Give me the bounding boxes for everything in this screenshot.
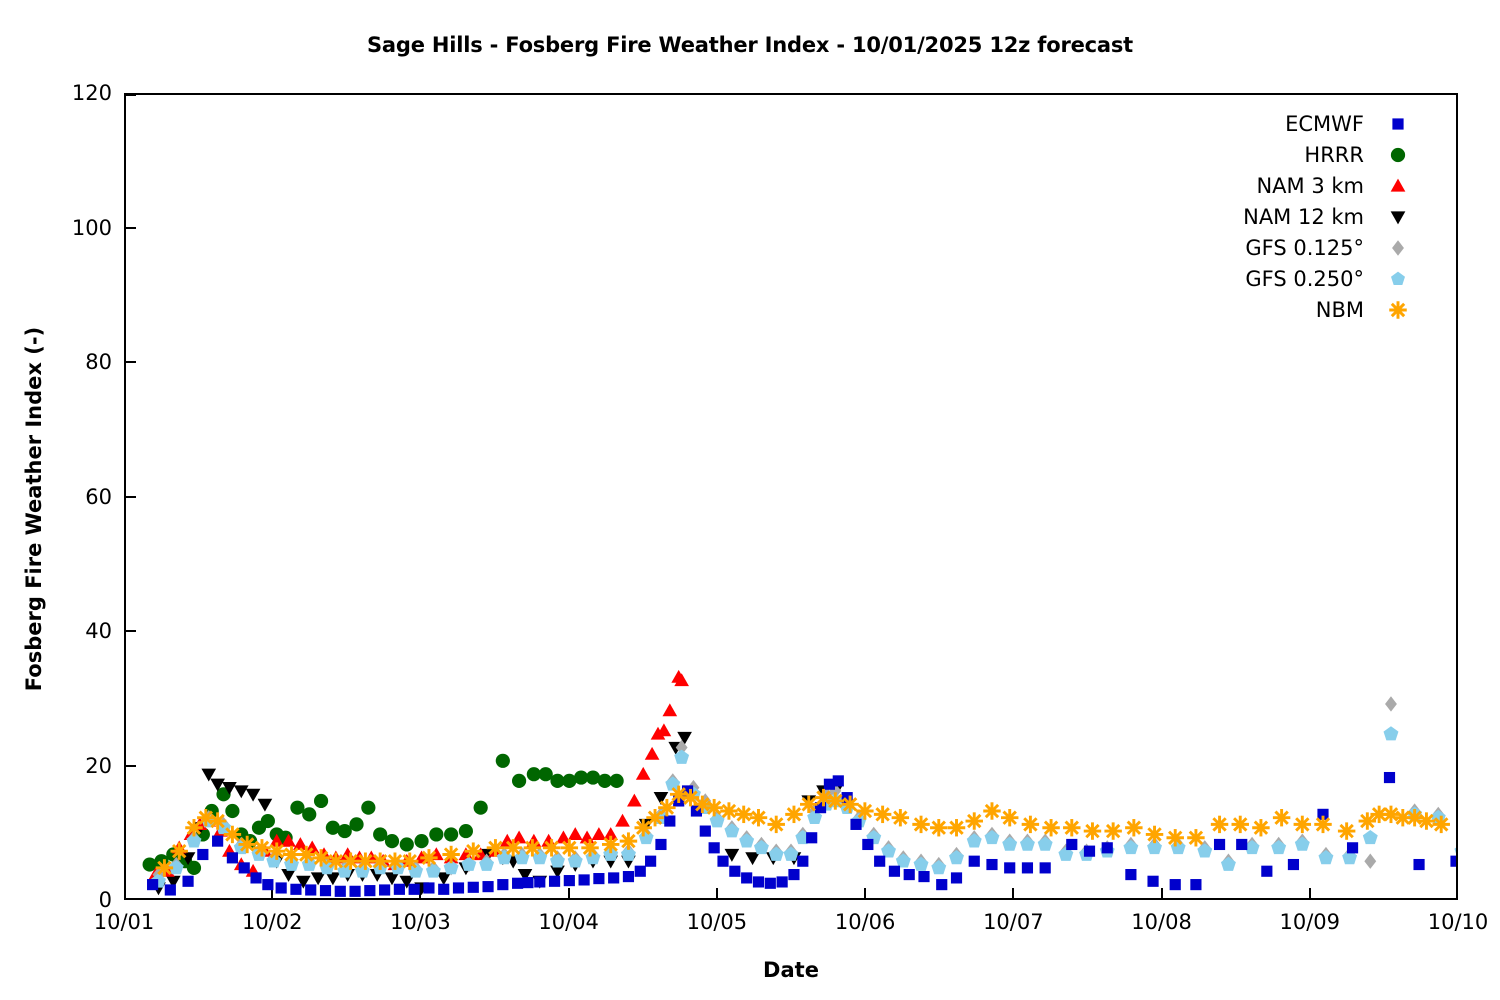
data-point <box>636 767 651 780</box>
data-point <box>281 869 296 882</box>
data-point <box>1338 822 1355 839</box>
data-point <box>896 853 911 867</box>
x-tick-label: 10/04 <box>538 910 599 934</box>
data-point <box>986 859 997 870</box>
data-point <box>442 846 459 863</box>
data-point <box>914 857 929 871</box>
legend-label: GFS 0.250° <box>1245 267 1386 291</box>
data-point <box>453 882 464 893</box>
data-point <box>1040 862 1051 873</box>
data-point <box>311 872 326 885</box>
data-point <box>262 879 273 890</box>
data-point <box>224 826 241 843</box>
data-point <box>261 814 275 828</box>
data-point <box>655 839 666 850</box>
data-point <box>1294 816 1311 833</box>
data-point <box>1022 862 1033 873</box>
data-point <box>856 802 873 819</box>
data-point <box>1347 842 1358 853</box>
data-point <box>1385 696 1397 711</box>
data-point <box>364 885 375 896</box>
data-point <box>147 879 158 890</box>
legend-item-ecmwf[interactable]: ECMWF <box>1185 108 1410 139</box>
data-point <box>985 830 1000 844</box>
data-point <box>349 817 363 831</box>
data-point <box>320 885 331 896</box>
data-point <box>1190 879 1201 890</box>
data-point <box>1002 837 1017 851</box>
data-point <box>1187 829 1204 846</box>
data-point <box>874 856 885 867</box>
data-point <box>1214 839 1225 850</box>
data-point <box>658 799 675 816</box>
data-point <box>705 799 722 816</box>
data-point <box>1063 819 1080 836</box>
data-point <box>468 882 479 893</box>
data-point <box>496 754 510 768</box>
data-point <box>1363 830 1378 844</box>
x-axis-title: Date <box>124 958 1458 982</box>
data-point <box>610 774 624 788</box>
x-tick-label: 10/10 <box>1428 910 1489 934</box>
data-point <box>170 842 187 859</box>
data-point <box>754 840 769 854</box>
data-point <box>827 792 844 809</box>
x-tick-label: 10/08 <box>1131 910 1192 934</box>
data-point <box>1236 839 1247 850</box>
fosberg-fire-weather-index-chart: Sage Hills - Fosberg Fire Weather Index … <box>0 0 1500 1000</box>
data-point <box>156 859 173 876</box>
y-tick-label: 0 <box>12 888 112 912</box>
data-point <box>385 834 399 848</box>
data-point <box>806 832 817 843</box>
y-tick-label: 80 <box>12 350 112 374</box>
data-point <box>815 789 832 806</box>
data-point <box>1125 869 1136 880</box>
data-point <box>1384 726 1399 740</box>
data-point <box>627 794 642 807</box>
data-point <box>1147 876 1158 887</box>
data-point <box>487 839 504 856</box>
data-point <box>892 809 909 826</box>
legend-label: HRRR <box>1304 143 1386 167</box>
data-point <box>335 886 346 897</box>
data-point <box>549 876 560 887</box>
data-point <box>739 833 754 847</box>
data-point <box>414 834 428 848</box>
data-point <box>1022 816 1039 833</box>
legend-label: NAM 3 km <box>1256 174 1386 198</box>
data-point <box>209 812 226 829</box>
data-point <box>290 884 301 895</box>
data-point <box>1318 850 1333 864</box>
chart-legend: ECMWFHRRRNAM 3 kmNAM 12 kmGFS 0.125°GFS … <box>1185 108 1410 325</box>
data-point <box>165 884 176 895</box>
data-point <box>298 846 315 863</box>
data-point <box>474 801 488 815</box>
data-point <box>1001 809 1018 826</box>
legend-item-nam-3-km[interactable]: NAM 3 km <box>1185 170 1410 201</box>
data-point <box>1066 839 1077 850</box>
data-point <box>710 813 725 827</box>
x-tick-label: 10/09 <box>1280 910 1341 934</box>
data-point <box>1146 826 1163 843</box>
data-point <box>250 872 261 883</box>
data-point <box>238 836 255 853</box>
data-point <box>1221 857 1236 871</box>
data-point <box>239 862 250 873</box>
data-point <box>534 876 545 887</box>
data-point <box>797 856 808 867</box>
data-point <box>1084 846 1095 857</box>
data-point <box>512 774 526 788</box>
data-point <box>717 856 728 867</box>
data-point <box>881 843 896 857</box>
data-point <box>400 837 414 851</box>
data-point <box>212 836 223 847</box>
data-point <box>951 872 962 883</box>
data-point <box>1252 819 1269 836</box>
legend-item-nam-12-km[interactable]: NAM 12 km <box>1185 201 1410 232</box>
data-point <box>767 816 784 833</box>
data-point <box>564 875 575 886</box>
data-point <box>623 871 634 882</box>
y-tick-label: 100 <box>12 216 112 240</box>
data-point <box>512 878 523 889</box>
data-point <box>579 874 590 885</box>
data-point <box>745 852 760 865</box>
data-point <box>276 882 287 893</box>
legend-item-gfs-0-125[interactable]: GFS 0.125° <box>1185 232 1410 263</box>
data-point <box>1454 843 1456 857</box>
data-point <box>983 802 1000 819</box>
data-point <box>918 871 929 882</box>
data-point <box>904 869 915 880</box>
data-point <box>1232 816 1249 833</box>
data-point <box>497 879 508 890</box>
legend-diamond-icon <box>1386 236 1410 260</box>
data-point <box>741 872 752 883</box>
x-tick-label: 10/01 <box>94 910 155 934</box>
x-tick-label: 10/05 <box>687 910 748 934</box>
data-point <box>465 842 482 859</box>
data-point <box>948 819 965 836</box>
legend-label: NBM <box>1316 298 1386 322</box>
y-tick-label: 60 <box>12 485 112 509</box>
data-point <box>592 827 607 840</box>
data-point <box>969 856 980 867</box>
legend-item-nbm[interactable]: NBM <box>1185 294 1410 325</box>
data-point <box>1418 812 1435 829</box>
data-point <box>1038 837 1053 851</box>
data-point <box>593 873 604 884</box>
data-point <box>197 809 214 826</box>
y-axis-title: Fosberg Fire Weather Index (-) <box>22 249 46 769</box>
data-point <box>1084 822 1101 839</box>
data-point <box>862 839 873 850</box>
data-point <box>1197 843 1212 857</box>
data-point <box>645 856 656 867</box>
data-point <box>522 877 533 888</box>
data-point <box>833 775 844 786</box>
data-point <box>312 849 329 866</box>
data-point <box>423 882 434 893</box>
data-point <box>931 860 946 874</box>
data-point <box>1382 806 1399 823</box>
data-point <box>580 830 595 843</box>
chart-title: Sage Hills - Fosberg Fire Weather Index … <box>0 33 1500 57</box>
data-point <box>1432 816 1449 833</box>
data-point <box>305 884 316 895</box>
data-point <box>379 884 390 895</box>
x-tick-label: 10/07 <box>983 910 1044 934</box>
data-point <box>720 802 737 819</box>
data-point <box>1413 859 1424 870</box>
legend-label: NAM 12 km <box>1243 205 1386 229</box>
data-point <box>1004 862 1015 873</box>
data-point <box>182 876 193 887</box>
data-point <box>1273 809 1290 826</box>
data-point <box>966 812 983 829</box>
data-point <box>532 850 547 864</box>
data-point <box>1288 859 1299 870</box>
data-point <box>608 872 619 883</box>
data-point <box>769 847 784 861</box>
data-point <box>735 806 752 823</box>
data-point <box>670 786 687 803</box>
x-tick-label: 10/03 <box>390 910 451 934</box>
data-point <box>561 839 578 856</box>
data-point <box>459 824 473 838</box>
data-point <box>349 886 360 897</box>
legend-item-gfs-0-250[interactable]: GFS 0.250° <box>1185 263 1410 294</box>
y-tick-label: 40 <box>12 619 112 643</box>
data-point <box>1314 816 1331 833</box>
data-point <box>482 881 493 892</box>
data-point <box>784 847 799 861</box>
data-point <box>1384 772 1395 783</box>
data-point <box>602 836 619 853</box>
data-point <box>504 839 521 856</box>
data-point <box>581 839 598 856</box>
y-tick-label: 120 <box>12 81 112 105</box>
data-point <box>438 884 449 895</box>
data-point <box>1042 819 1059 836</box>
data-point <box>1125 819 1142 836</box>
data-point <box>664 815 675 826</box>
data-point <box>850 819 861 830</box>
data-point <box>949 850 964 864</box>
data-point <box>227 852 238 863</box>
data-point <box>420 849 437 866</box>
data-point <box>1170 879 1181 890</box>
data-point <box>709 842 720 853</box>
legend-pentagon-icon <box>1386 267 1410 291</box>
legend-triangle-down-icon <box>1386 205 1410 229</box>
data-point <box>253 839 270 856</box>
data-point <box>1450 856 1456 867</box>
legend-label: GFS 0.125° <box>1245 236 1386 260</box>
data-point <box>1020 837 1035 851</box>
data-point <box>765 878 776 889</box>
data-point <box>1271 840 1286 854</box>
data-point <box>729 866 740 877</box>
legend-label: ECMWF <box>1285 112 1386 136</box>
legend-item-hrrr[interactable]: HRRR <box>1185 139 1410 170</box>
data-point <box>874 806 891 823</box>
data-point <box>1104 822 1121 839</box>
data-point <box>662 703 677 716</box>
data-point <box>1123 840 1138 854</box>
data-point <box>302 807 316 821</box>
data-point <box>788 869 799 880</box>
data-point <box>409 884 420 895</box>
data-point <box>444 827 458 841</box>
data-point <box>1261 866 1272 877</box>
data-point <box>1406 809 1423 826</box>
data-point <box>967 833 982 847</box>
data-point <box>645 747 660 760</box>
data-point <box>694 796 711 813</box>
data-point <box>724 823 739 837</box>
data-point <box>777 876 788 887</box>
data-point <box>635 866 646 877</box>
data-point <box>615 814 630 827</box>
data-point <box>197 849 208 860</box>
data-point <box>1364 854 1376 869</box>
data-point <box>568 827 583 840</box>
data-point <box>930 819 947 836</box>
data-point <box>258 799 273 812</box>
data-point <box>1295 837 1310 851</box>
data-point <box>700 826 711 837</box>
legend-triangle-up-icon <box>1386 174 1410 198</box>
data-point <box>936 879 947 890</box>
legend-square-icon <box>1386 112 1410 136</box>
data-point <box>314 794 328 808</box>
data-point <box>750 809 767 826</box>
data-point <box>1166 829 1183 846</box>
data-point <box>524 839 541 856</box>
data-point <box>326 872 341 885</box>
data-point <box>401 852 418 869</box>
data-point <box>912 816 929 833</box>
data-point <box>785 806 802 823</box>
x-tick-label: 10/06 <box>835 910 896 934</box>
data-point <box>753 876 764 887</box>
legend-circle-icon <box>1386 143 1410 167</box>
x-tick-label: 10/02 <box>242 910 303 934</box>
data-point <box>361 801 375 815</box>
data-point <box>889 866 900 877</box>
data-point <box>429 827 443 841</box>
data-point <box>620 832 637 849</box>
data-point <box>543 839 560 856</box>
data-point <box>225 804 239 818</box>
data-point <box>394 884 405 895</box>
data-point <box>385 872 400 885</box>
legend-asterisk-icon <box>1386 298 1410 322</box>
data-point <box>268 842 285 859</box>
data-point <box>234 785 249 798</box>
data-point <box>1102 842 1113 853</box>
y-tick-label: 20 <box>12 754 112 778</box>
data-point <box>1211 816 1228 833</box>
